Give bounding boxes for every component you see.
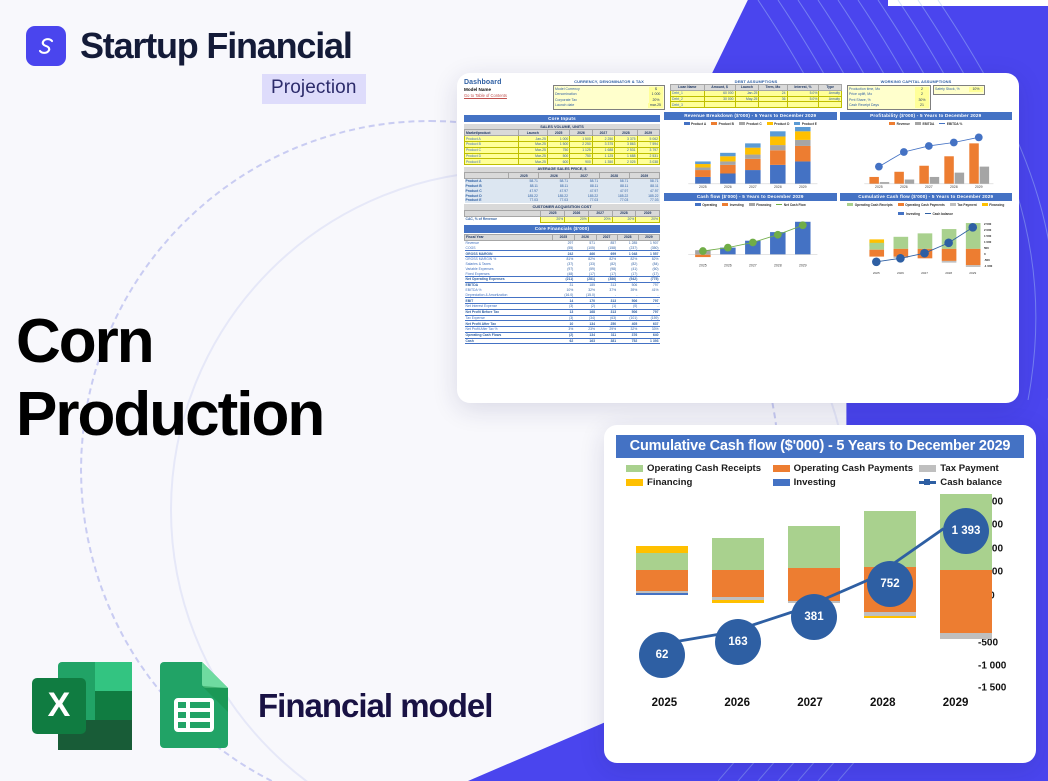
- svg-text:2029: 2029: [799, 263, 807, 267]
- revenue-breakdown-title: Revenue Breakdown ($'000) - 5 Years to D…: [664, 112, 837, 120]
- svg-text:2 500: 2 500: [983, 221, 991, 225]
- legend-label: Revenue: [897, 122, 910, 126]
- table-row: Debt_3: [671, 102, 842, 108]
- cell: Cash: [465, 338, 553, 344]
- cell: 77.03: [509, 198, 539, 203]
- legend-item: Net Cash Flow: [776, 203, 805, 207]
- core-financials-table[interactable]: Fiscal Year 2025 2026 2027 2028 2029 Rev…: [464, 234, 660, 345]
- wc-key: Cash Receipt Days: [849, 103, 882, 108]
- data-label-2029: 1 393: [943, 508, 989, 554]
- cell[interactable]: 3 038: [637, 159, 659, 165]
- legend-swatch: [722, 203, 728, 206]
- currency-key: Launch date: [555, 103, 577, 108]
- wc-row: Cash Receipt Days21: [849, 103, 929, 108]
- legend-swatch-blue: [773, 479, 790, 486]
- legend-label: Tax Payment: [940, 463, 998, 474]
- cell: 77.03: [599, 198, 629, 203]
- legend-item: Product D: [767, 122, 790, 126]
- legend-label: Product D: [774, 122, 789, 126]
- cash-flow-chart[interactable]: Cash flow ($'000) - 5 Years to December …: [664, 193, 837, 280]
- legend-item: Product B: [711, 122, 734, 126]
- svg-text:2028: 2028: [949, 185, 957, 189]
- wc-block-box[interactable]: Production time, Mo2 Price uplift, Mo2 P…: [847, 85, 931, 110]
- legend-label: EBITDA: [922, 122, 934, 126]
- legend-swatch: [982, 203, 988, 206]
- legend-swatch: [749, 203, 755, 206]
- svg-text:2028: 2028: [945, 270, 952, 274]
- svg-text:2028: 2028: [774, 263, 782, 267]
- svg-text:-1 000: -1 000: [983, 264, 992, 268]
- legend-label: Operating Cash Receipts: [647, 463, 761, 474]
- revenue-breakdown-plot: 20252026202720282029: [664, 127, 837, 189]
- cac-table[interactable]: 2025 2026 2027 2028 2029 CAC, % of Reven…: [464, 210, 660, 223]
- microsoft-excel-icon: X: [30, 660, 134, 752]
- currency-assumptions-block: CURRENCY, DENOMINATOR & TAX Model Curren…: [553, 79, 665, 110]
- cell: 752: [617, 338, 638, 344]
- cell: 381: [596, 338, 617, 344]
- table-row: Product EMar-256009001 3502 0253 038: [465, 159, 660, 165]
- legend-swatch-gray: [919, 465, 936, 472]
- cell: 62: [552, 338, 574, 344]
- legend-item: Financing: [982, 203, 1005, 207]
- bars-container: 62 163 381 752 1 393: [628, 494, 968, 690]
- cell[interactable]: [759, 102, 787, 108]
- cumulative-cash-flow-card[interactable]: Cumulative Cash flow ($'000) - 5 Years t…: [604, 425, 1036, 763]
- legend-label: Product A: [691, 122, 706, 126]
- legend-label: Operating: [702, 203, 717, 207]
- svg-text:2025: 2025: [872, 270, 879, 274]
- legend-item-tax-payment: Tax Payment: [919, 463, 1022, 474]
- cumulative-cash-flow-legend: Operating Cash Receipts Operating Cash P…: [840, 202, 1013, 217]
- x-tick: 2028: [846, 697, 919, 709]
- core-inputs-pane: Core Inputs SALES VOLUME, UNITS Market/p…: [464, 112, 660, 344]
- legend-item: Product A: [684, 122, 707, 126]
- legend-item-operating-cash-receipts: Operating Cash Receipts: [626, 463, 769, 474]
- legend-label: Tax Payment: [957, 203, 976, 207]
- legend-label: Financing: [756, 203, 771, 207]
- brand-subtitle-wrap: Projection: [262, 74, 366, 104]
- svg-text:0: 0: [983, 251, 985, 255]
- cash-flow-title: Cash flow ($'000) - 5 Years to December …: [664, 193, 837, 201]
- cell[interactable]: 20%: [636, 216, 660, 222]
- safety-stock-value[interactable]: 10%: [969, 87, 983, 92]
- legend-item: EBITDA %: [939, 122, 962, 126]
- x-tick: 2029: [919, 697, 992, 709]
- legend-item-cash-balance: Cash balance: [919, 477, 1022, 488]
- legend-item: Tax Payment: [950, 203, 977, 207]
- google-sheets-icon: [156, 660, 232, 752]
- currency-value[interactable]: mar-25: [648, 103, 663, 108]
- e-swirl-logo-icon: [26, 26, 66, 66]
- profitability-plot: 20252026202720282029: [840, 127, 1013, 189]
- svg-text:2027: 2027: [921, 270, 928, 274]
- x-tick: 2027: [774, 697, 847, 709]
- sheets-glyph-icon: [156, 660, 232, 752]
- safety-stock-row: Safety Stock, % 10%: [935, 87, 983, 92]
- currency-block-box[interactable]: Model Currency$ Denomination1 000 Corpor…: [553, 85, 665, 110]
- svg-text:1 000: 1 000: [983, 239, 991, 243]
- safety-stock-key: Safety Stock, %: [935, 87, 963, 92]
- legend-item-financing: Financing: [626, 477, 769, 488]
- svg-text:2027: 2027: [925, 185, 933, 189]
- legend-item-investing: Investing: [773, 477, 916, 488]
- cell[interactable]: 2 025: [615, 159, 637, 165]
- svg-text:500: 500: [983, 245, 988, 249]
- legend-swatch: [847, 203, 853, 206]
- svg-text:2028: 2028: [774, 185, 782, 189]
- dashboard-title: Dashboard: [464, 79, 548, 86]
- legend-swatch: [684, 122, 690, 125]
- svg-text:2027: 2027: [749, 263, 757, 267]
- chart-plot-area: 2 500 2 000 1 500 1 000 500 0 -500 -1 00…: [616, 494, 1024, 690]
- legend-label: Cash balance: [940, 477, 1002, 488]
- legend-swatch: [889, 122, 895, 125]
- svg-text:2026: 2026: [896, 270, 903, 274]
- cell[interactable]: 20%: [541, 216, 565, 222]
- legend-label: Investing: [794, 477, 836, 488]
- legend-label: Operating Cash Payments: [794, 463, 913, 474]
- dashboard-preview-card[interactable]: Dashboard Model Name Go to Table of Cont…: [457, 73, 1019, 403]
- legend-label: Investing: [730, 203, 744, 207]
- legend-swatch: [794, 122, 800, 125]
- legend-item: Investing: [898, 212, 920, 216]
- cell[interactable]: [735, 102, 759, 108]
- profitability-title: Profitability ($'000) - 5 Years to Decem…: [840, 112, 1013, 120]
- format-badges-label: Financial model: [258, 687, 492, 725]
- core-financials-band: Core Financials ($'000): [464, 225, 660, 233]
- legend-swatch: [925, 213, 931, 214]
- x-tick: 2026: [701, 697, 774, 709]
- poster-canvas: Startup Financial Projection Corn Produc…: [0, 0, 1048, 781]
- cell: 77.03: [629, 198, 659, 203]
- svg-text:2025: 2025: [699, 185, 707, 189]
- legend-label: Net Cash Flow: [784, 203, 806, 207]
- cash-flow-plot: 20252026202720282029: [664, 208, 837, 270]
- debt-assumptions-table[interactable]: Loan Name Amount, $ Launch Term, Mo Inte…: [670, 84, 842, 108]
- svg-text:1 500: 1 500: [983, 233, 991, 237]
- legend-swatch: [939, 123, 945, 124]
- legend-item: Financing: [749, 203, 772, 207]
- cell: 1 393: [638, 338, 659, 344]
- profitability-chart[interactable]: Profitability ($'000) - 5 Years to Decem…: [840, 112, 1013, 190]
- legend-label: Product B: [719, 122, 734, 126]
- svg-text:2025: 2025: [875, 185, 883, 189]
- cell: 77.03: [539, 198, 569, 203]
- core-inputs-band: Core Inputs: [464, 115, 660, 123]
- page-title-line2: Production: [16, 378, 323, 451]
- safety-stock-box[interactable]: Safety Stock, % 10%: [933, 85, 985, 95]
- svg-text:2029: 2029: [799, 185, 807, 189]
- brand-header: Startup Financial: [26, 26, 352, 66]
- dashboard-titles: Dashboard Model Name Go to Table of Cont…: [464, 79, 548, 98]
- legend-label: Product C: [746, 122, 761, 126]
- cell[interactable]: 20%: [612, 216, 636, 222]
- sales-price-table[interactable]: 2025 2026 2027 2028 2029 Product A58.715…: [464, 172, 660, 203]
- cell[interactable]: [819, 102, 842, 108]
- chart-title: Cumulative Cash flow ($'000) - 5 Years t…: [616, 435, 1024, 458]
- page-title: Corn Production: [16, 305, 323, 451]
- currency-row: Launch datemar-25: [555, 103, 663, 108]
- svg-text:2026: 2026: [900, 185, 908, 189]
- legend-swatch: [950, 203, 956, 206]
- svg-text:2 000: 2 000: [983, 227, 991, 231]
- cell: 163: [574, 338, 596, 344]
- page-title-line1: Corn: [16, 305, 323, 378]
- legend-item: Product E: [794, 122, 817, 126]
- legend-swatch: [711, 122, 717, 125]
- legend-item-operating-cash-payments: Operating Cash Payments: [773, 463, 916, 474]
- excel-glyph-icon: X: [30, 660, 134, 752]
- legend-item: Operating Cash Receipts: [847, 203, 892, 207]
- chart-legend: Operating Cash Receipts Operating Cash P…: [616, 458, 1024, 490]
- revenue-breakdown-chart[interactable]: Revenue Breakdown ($'000) - 5 Years to D…: [664, 112, 837, 190]
- legend-swatch-yellow: [626, 479, 643, 486]
- cumulative-cash-flow-plot: 20252026202720282029 2 5002 0001 5001 00…: [840, 217, 1013, 279]
- cell[interactable]: Mar-25: [518, 159, 547, 165]
- legend-swatch: [695, 203, 701, 206]
- data-label-2028: 752: [867, 561, 913, 607]
- legend-label: Operating Cash Receipts: [855, 203, 893, 207]
- working-capital-block: WORKING CAPITAL ASSUMPTIONS Production t…: [847, 79, 985, 110]
- legend-item: Investing: [722, 203, 744, 207]
- cell[interactable]: Debt_3: [671, 102, 705, 108]
- x-tick: 2025: [628, 697, 701, 709]
- table-of-contents-link[interactable]: Go to Table of Contents: [464, 93, 548, 98]
- legend-item: Revenue: [889, 122, 910, 126]
- cumulative-cash-flow-title: Cumulative Cash flow ($'000) - 5 Years t…: [840, 193, 1013, 201]
- data-label-2025: 62: [639, 632, 685, 678]
- dashboard-charts-pane: Revenue Breakdown ($'000) - 5 Years to D…: [664, 112, 1012, 344]
- legend-swatch-line: [919, 481, 936, 484]
- cell[interactable]: [704, 102, 735, 108]
- cell[interactable]: Product E: [465, 159, 519, 165]
- sales-volume-table[interactable]: Market/product Launch 2025 2026 2027 202…: [464, 129, 660, 165]
- dashboard-body: Core Inputs SALES VOLUME, UNITS Market/p…: [464, 112, 1012, 344]
- legend-swatch: [915, 122, 921, 125]
- model-name-label: Model Name: [464, 87, 548, 92]
- svg-text:2025: 2025: [699, 263, 707, 267]
- cell: Product E: [465, 198, 509, 203]
- svg-text:2026: 2026: [724, 263, 732, 267]
- currency-block-header: CURRENCY, DENOMINATOR & TAX: [553, 79, 665, 84]
- legend-swatch: [898, 212, 904, 215]
- legend-label: EBITDA %: [947, 122, 962, 126]
- table-row: CAC, % of Revenue 20% 20% 20% 20% 20%: [465, 216, 660, 222]
- legend-label: Cash balance: [932, 212, 953, 216]
- legend-item: Operating Cash Payments: [898, 203, 945, 207]
- legend-label: Product E: [802, 122, 817, 126]
- format-badges: X Financial model: [30, 660, 492, 752]
- svg-text:-500: -500: [983, 257, 989, 261]
- cell[interactable]: 20%: [588, 216, 612, 222]
- data-label-2026: 163: [715, 619, 761, 665]
- svg-text:2026: 2026: [724, 185, 732, 189]
- legend-swatch: [767, 122, 773, 125]
- legend-swatch-orange: [773, 465, 790, 472]
- svg-text:2027: 2027: [749, 185, 757, 189]
- cell[interactable]: [787, 102, 819, 108]
- logo-glyph-icon: [33, 33, 59, 59]
- cell[interactable]: 900: [570, 159, 592, 165]
- cac-row-label: CAC, % of Revenue: [465, 216, 541, 222]
- legend-swatch: [776, 204, 782, 205]
- table-row: Cash621633817521 393: [465, 338, 660, 344]
- legend-item: Cash balance: [925, 212, 953, 216]
- legend-swatch: [898, 203, 904, 206]
- legend-label: Financing: [647, 477, 692, 488]
- legend-item: Product C: [739, 122, 762, 126]
- data-label-2027: 381: [791, 594, 837, 640]
- cell[interactable]: 600: [547, 159, 569, 165]
- svg-text:2029: 2029: [974, 185, 982, 189]
- brand-subtitle: Projection: [262, 74, 366, 104]
- cell[interactable]: 20%: [565, 216, 589, 222]
- legend-label: Financing: [989, 203, 1004, 207]
- dashboard-header-row: Dashboard Model Name Go to Table of Cont…: [464, 79, 1012, 110]
- cell: 77.03: [569, 198, 599, 203]
- legend-item: EBITDA: [915, 122, 934, 126]
- cumulative-cash-flow-mini-chart[interactable]: Cumulative Cash flow ($'000) - 5 Years t…: [840, 193, 1013, 280]
- legend-swatch: [739, 122, 745, 125]
- legend-label: Operating Cash Payments: [905, 203, 945, 207]
- svg-text:2029: 2029: [969, 270, 976, 274]
- x-axis: 2025 2026 2027 2028 2029: [628, 692, 992, 714]
- table-row: Product E77.0377.0377.0377.0377.03: [465, 198, 660, 203]
- legend-label: Investing: [906, 212, 920, 216]
- wc-value[interactable]: 21: [915, 103, 929, 108]
- legend-item: Operating: [695, 203, 718, 207]
- svg-text:X: X: [48, 686, 71, 724]
- brand-title: Startup Financial: [80, 28, 352, 64]
- dashboard-sheet: Dashboard Model Name Go to Table of Cont…: [464, 79, 1012, 397]
- debt-assumptions-block: DEBT ASSUMPTIONS Loan Name Amount, $ Lau…: [670, 79, 842, 108]
- cell[interactable]: 1 350: [592, 159, 614, 165]
- legend-swatch-green: [626, 465, 643, 472]
